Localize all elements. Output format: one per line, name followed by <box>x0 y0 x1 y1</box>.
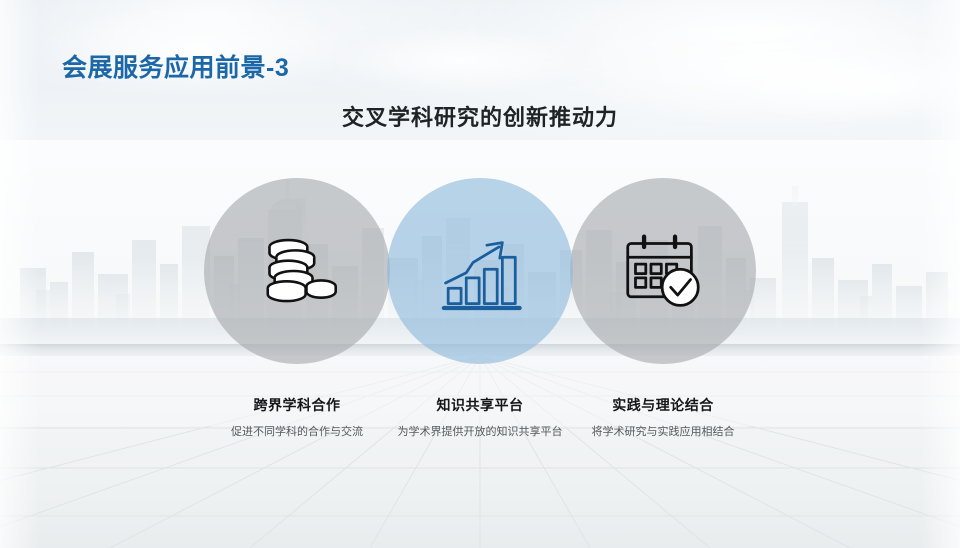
feature-caption-1: 跨界学科合作 促进不同学科的合作与交流 <box>204 396 390 441</box>
feature-circle-2[interactable] <box>387 178 573 364</box>
plaza-tile-grid-icon <box>0 356 960 548</box>
feature-title-3: 实践与理论结合 <box>570 396 756 414</box>
slide-canvas: 会展服务应用前景-3 交叉学科研究的创新推动力 <box>0 0 960 548</box>
page-title: 会展服务应用前景-3 <box>62 48 289 84</box>
feature-title-1: 跨界学科合作 <box>204 396 390 414</box>
feature-caption-2: 知识共享平台 为学术界提供开放的知识共享平台 <box>387 396 573 441</box>
feature-circle-1[interactable] <box>204 178 390 364</box>
feature-caption-3: 实践与理论结合 将学术研究与实践应用相结合 <box>570 396 756 441</box>
feature-circle-3[interactable] <box>570 178 756 364</box>
page-subtitle: 交叉学科研究的创新推动力 <box>0 100 960 132</box>
feature-title-2: 知识共享平台 <box>387 396 573 414</box>
calendar-check-icon <box>620 228 706 314</box>
plaza-floor <box>0 356 960 548</box>
feature-desc-2: 为学术界提供开放的知识共享平台 <box>387 424 573 441</box>
feature-desc-1: 促进不同学科的合作与交流 <box>204 424 390 441</box>
coins-stack-icon <box>254 228 340 314</box>
feature-desc-3: 将学术研究与实践应用相结合 <box>570 424 756 441</box>
feature-captions: 跨界学科合作 促进不同学科的合作与交流 知识共享平台 为学术界提供开放的知识共享… <box>0 396 960 441</box>
bar-chart-growth-icon <box>437 228 523 314</box>
